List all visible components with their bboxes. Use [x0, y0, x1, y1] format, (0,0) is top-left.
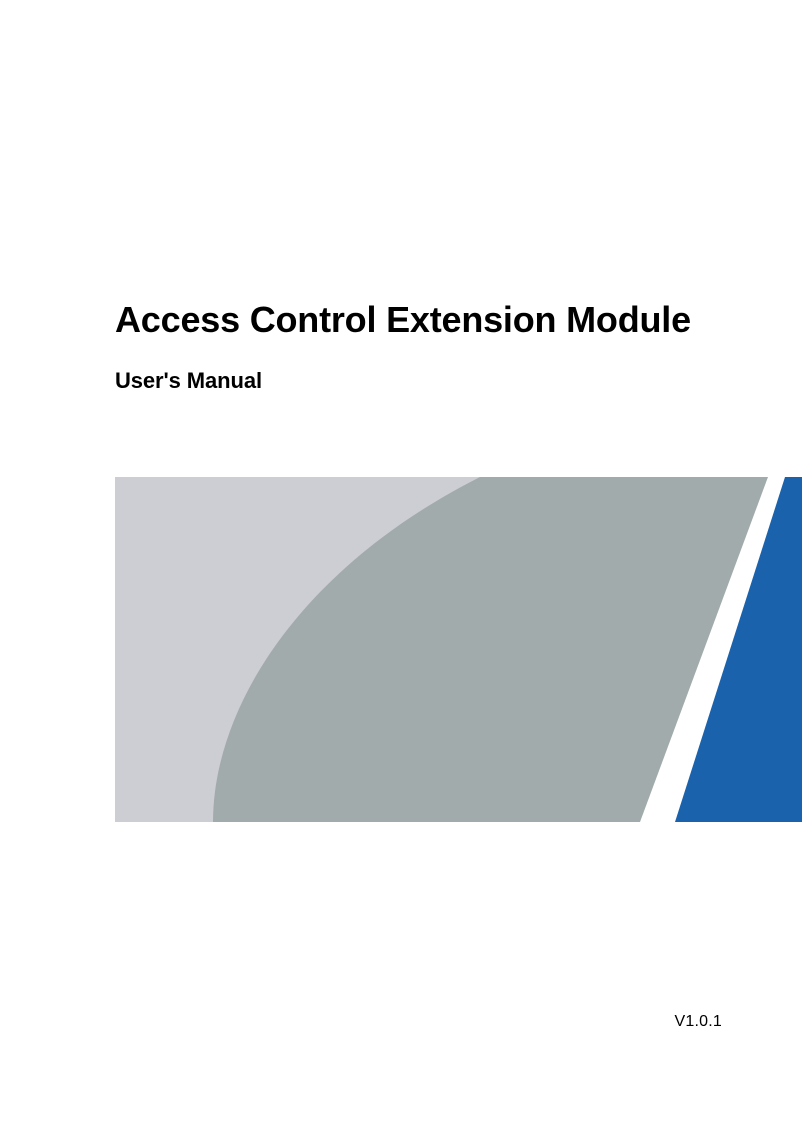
version-block: V1.0.1 — [0, 1012, 722, 1032]
document-subtitle: User's Manual — [115, 340, 755, 394]
title-block: Access Control Extension Module User's M… — [115, 300, 755, 394]
cover-banner-graphic — [115, 477, 802, 822]
page-title: Access Control Extension Module — [115, 300, 755, 340]
version-label: V1.0.1 — [675, 1013, 722, 1030]
cover-page: Access Control Extension Module User's M… — [0, 0, 802, 1134]
cover-banner-svg — [115, 477, 802, 822]
